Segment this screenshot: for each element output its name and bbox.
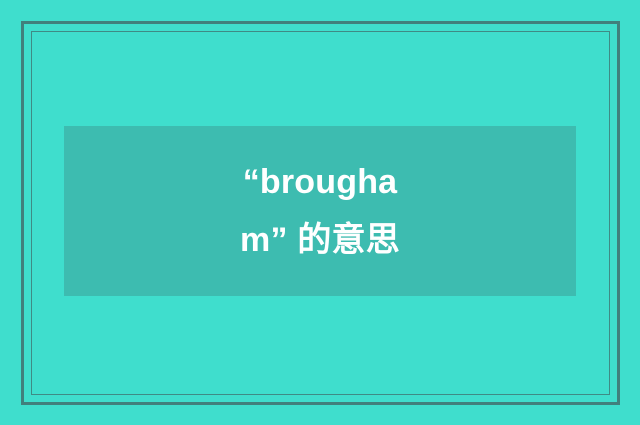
poster-canvas: “brougham” 的意思: [0, 0, 640, 425]
page-title: “brougham” 的意思: [220, 153, 420, 270]
content-panel: “brougham” 的意思: [64, 126, 576, 296]
